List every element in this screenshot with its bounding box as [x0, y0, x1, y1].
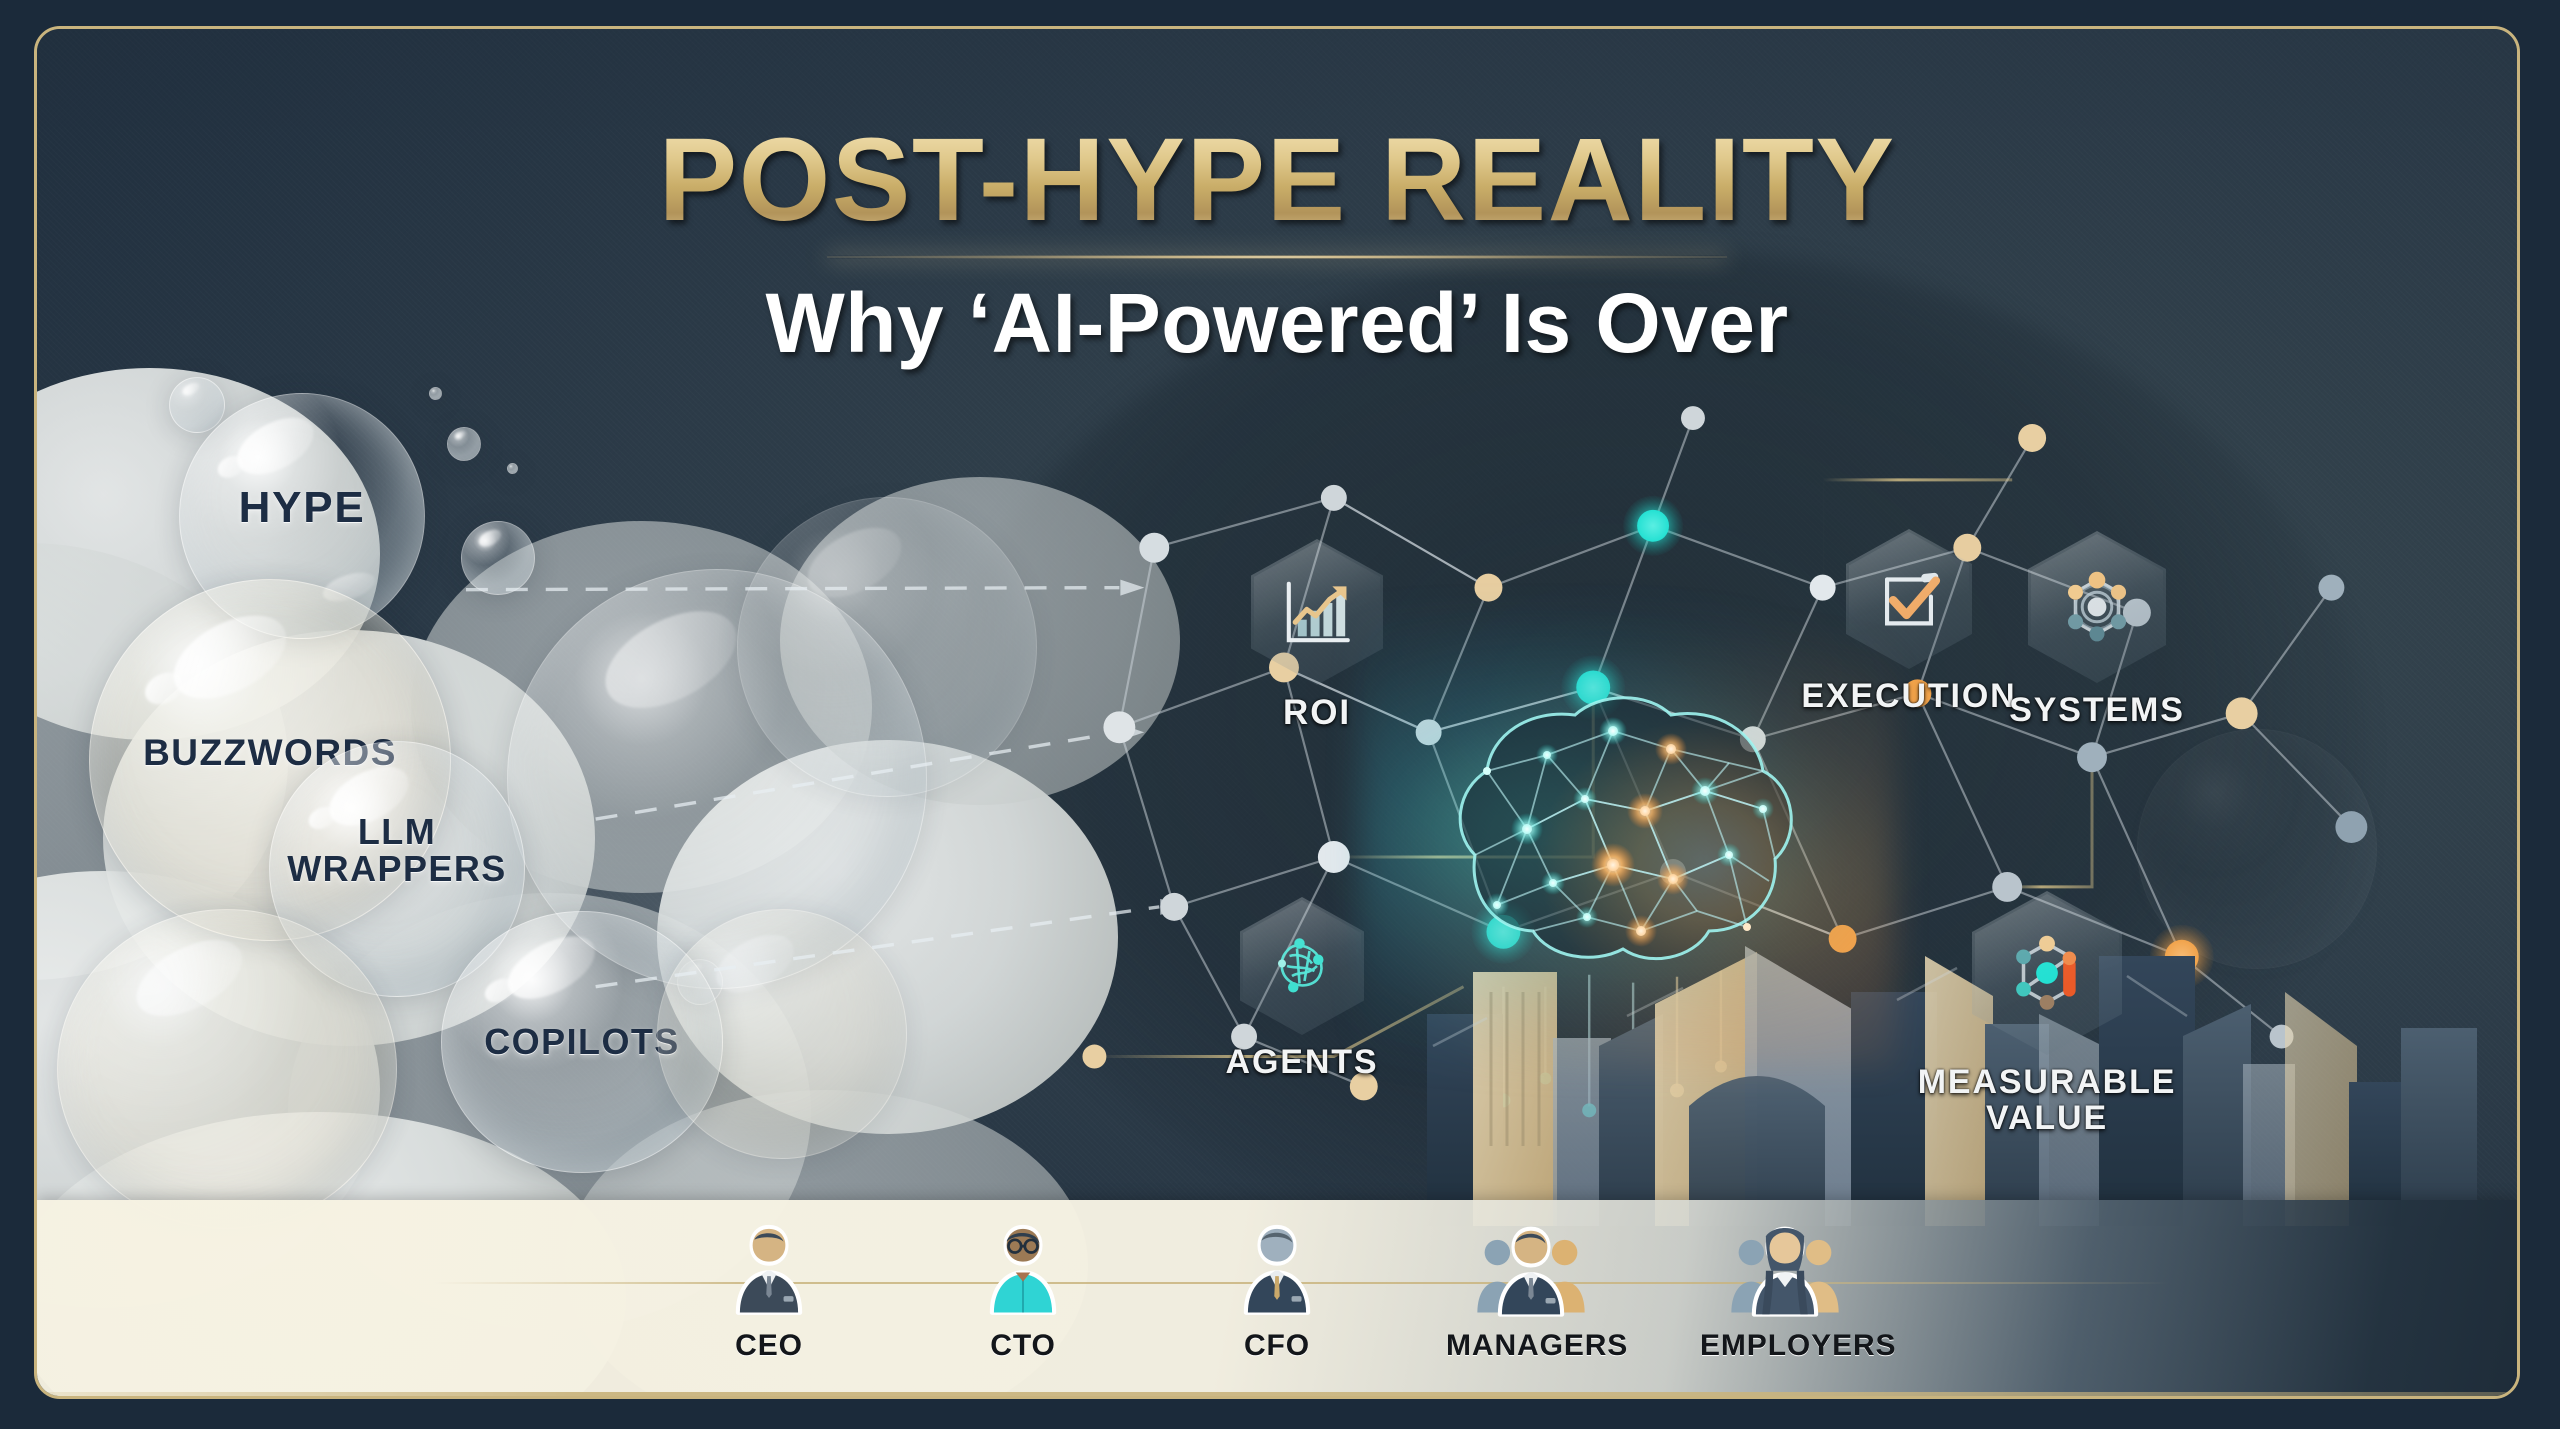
hex-badge [1846, 529, 1972, 669]
network-hub-icon [2054, 564, 2140, 650]
title-divider [827, 255, 1727, 259]
hex-badge [2028, 531, 2166, 683]
brain-illustration [1417, 659, 1837, 1019]
poster-root: HYPE BUZZWORDS LLM WRAPPERS [0, 0, 2560, 1429]
hex-badge [1240, 897, 1364, 1035]
persona-bar-bottom-rule [37, 1392, 2517, 1396]
page-subtitle: Why ‘AI-Powered’ Is Over [37, 281, 2517, 365]
title-block: POST-HYPE REALITY Why ‘AI-Powered’ Is Ov… [37, 121, 2517, 365]
hex-label: AGENTS [1182, 1045, 1422, 1081]
hex-node-roi[interactable]: ROI [1217, 539, 1417, 732]
hex-label: MEASURABLE VALUE [1902, 1065, 2192, 1136]
person-suit-icon [723, 1218, 815, 1318]
persona-label: EMPLOYERS [1700, 1329, 1870, 1363]
hex-node-systems[interactable]: SYSTEMS [1977, 531, 2217, 729]
bar-chart-rising-arrow-icon [1276, 571, 1358, 653]
persona-cto[interactable]: CTO [938, 1218, 1108, 1363]
people-group-female-icon [1725, 1218, 1845, 1318]
hex-badge [1972, 891, 2122, 1055]
people-group-icon [1471, 1218, 1591, 1318]
checklist-checkmark-icon [1870, 560, 1948, 638]
poster-frame: HYPE BUZZWORDS LLM WRAPPERS [34, 26, 2520, 1399]
hex-label: SYSTEMS [1977, 693, 2217, 729]
brain-wireframe [1417, 659, 1837, 1019]
persona-ceo[interactable]: CEO [684, 1218, 854, 1363]
persona-cfo[interactable]: CFO [1192, 1218, 1362, 1363]
persona-bar: CEO [37, 1200, 2517, 1396]
hex-label: ROI [1217, 695, 1417, 732]
neural-network-icon [1262, 926, 1342, 1006]
person-glasses-icon [977, 1218, 1069, 1318]
person-suit-tie-icon [1231, 1218, 1323, 1318]
persona-label: MANAGERS [1446, 1329, 1616, 1363]
page-title: POST-HYPE REALITY [37, 121, 2517, 239]
persona-managers[interactable]: MANAGERS [1446, 1218, 1616, 1363]
persona-employers[interactable]: EMPLOYERS [1700, 1218, 1870, 1363]
persona-label: CFO [1192, 1329, 1362, 1363]
persona-list: CEO [37, 1218, 2517, 1363]
persona-label: CTO [938, 1329, 1108, 1363]
hex-badge [1251, 539, 1383, 685]
hex-node-agents[interactable]: AGENTS [1182, 897, 1422, 1081]
persona-label: CEO [684, 1329, 854, 1363]
hex-node-measurable-value[interactable]: MEASURABLE VALUE [1902, 891, 2192, 1136]
node-graph-metric-icon [2000, 926, 2094, 1020]
